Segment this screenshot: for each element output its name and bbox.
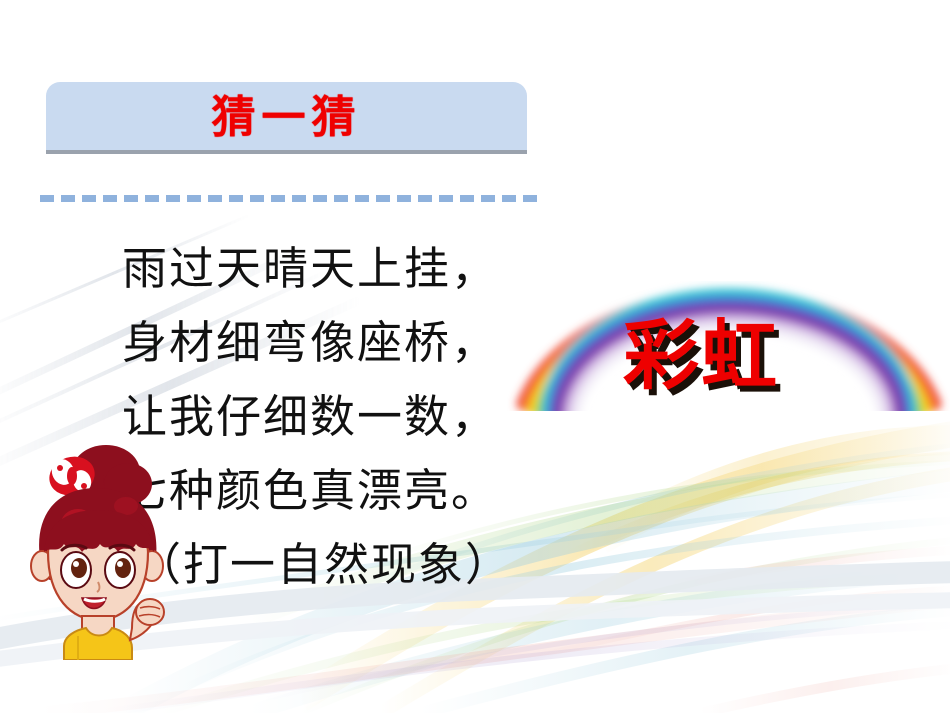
dashed-divider	[40, 195, 537, 202]
poem-line-hint: （打一自然现象）	[136, 528, 592, 602]
poem-line: 七种颜色真漂亮。	[122, 454, 592, 528]
slide-canvas: 猜一猜	[0, 0, 950, 713]
poem-line: 让我仔细数一数，	[122, 380, 592, 454]
poem-text: 雨过天晴天上挂， 身材细弯像座桥， 让我仔细数一数， 七种颜色真漂亮。 （打一自…	[122, 232, 592, 602]
page-title: 猜一猜	[46, 84, 527, 152]
answer-word: 彩虹	[623, 318, 779, 394]
poem-line: 雨过天晴天上挂，	[122, 232, 592, 306]
poem-line: 身材细弯像座桥，	[122, 306, 592, 380]
